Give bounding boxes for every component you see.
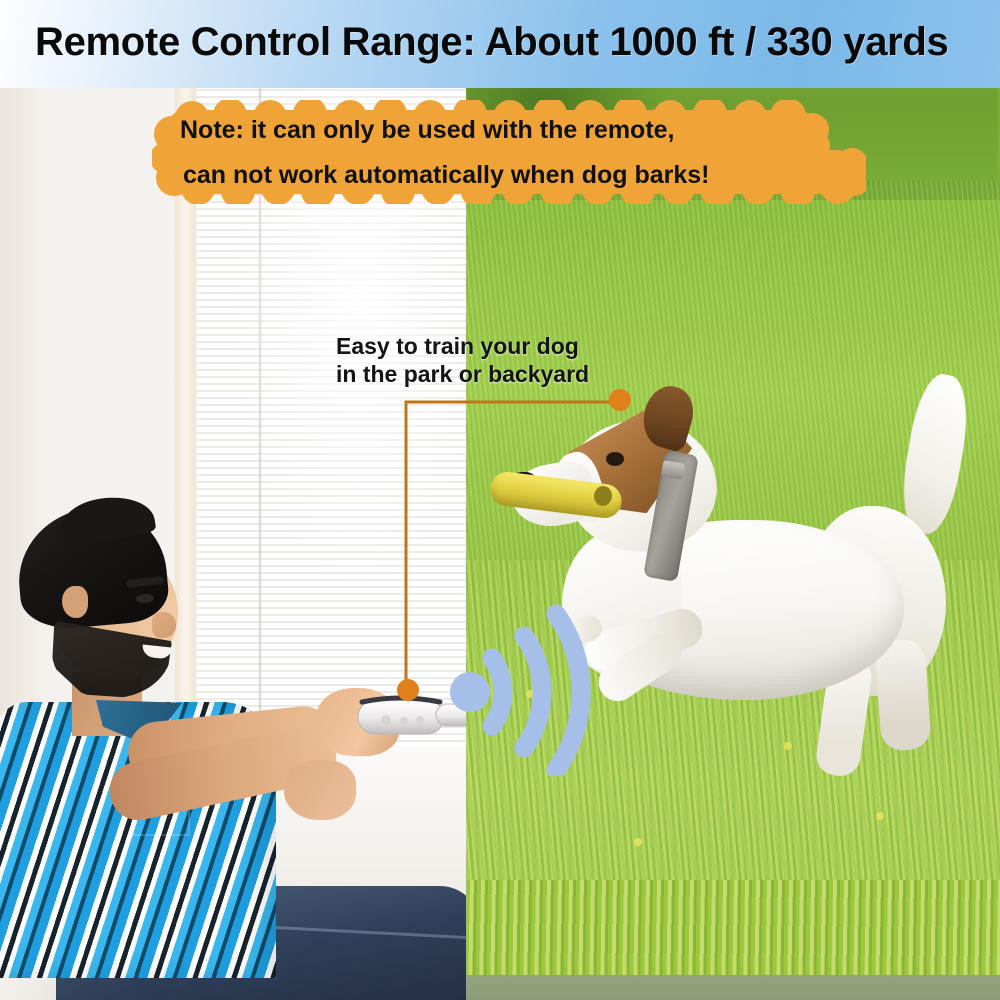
ear [62,586,88,618]
nose [152,612,176,638]
callout-label-line1: Easy to train your dog [336,332,636,360]
note-callout: Note: it can only be used with the remot… [152,100,866,204]
dog-rear-leg-2 [874,638,932,751]
dog-tail [895,371,976,538]
product-infographic: Easy to train your dog in the park or ba… [0,0,1000,1000]
note-line-1: Note: it can only be used with the remot… [180,108,860,153]
callout-dot-remote [397,679,419,701]
callout-connector-line [380,380,640,710]
page-title: Remote Control Range: About 1000 ft / 33… [35,14,975,70]
note-text: Note: it can only be used with the remot… [180,108,860,198]
note-line-2: can not work automatically when dog bark… [183,153,860,198]
callout-label: Easy to train your dog in the park or ba… [336,332,636,388]
callout-label-line2: in the park or backyard [336,360,636,388]
callout-dot-dog [609,389,631,411]
resting-hand [284,760,356,820]
